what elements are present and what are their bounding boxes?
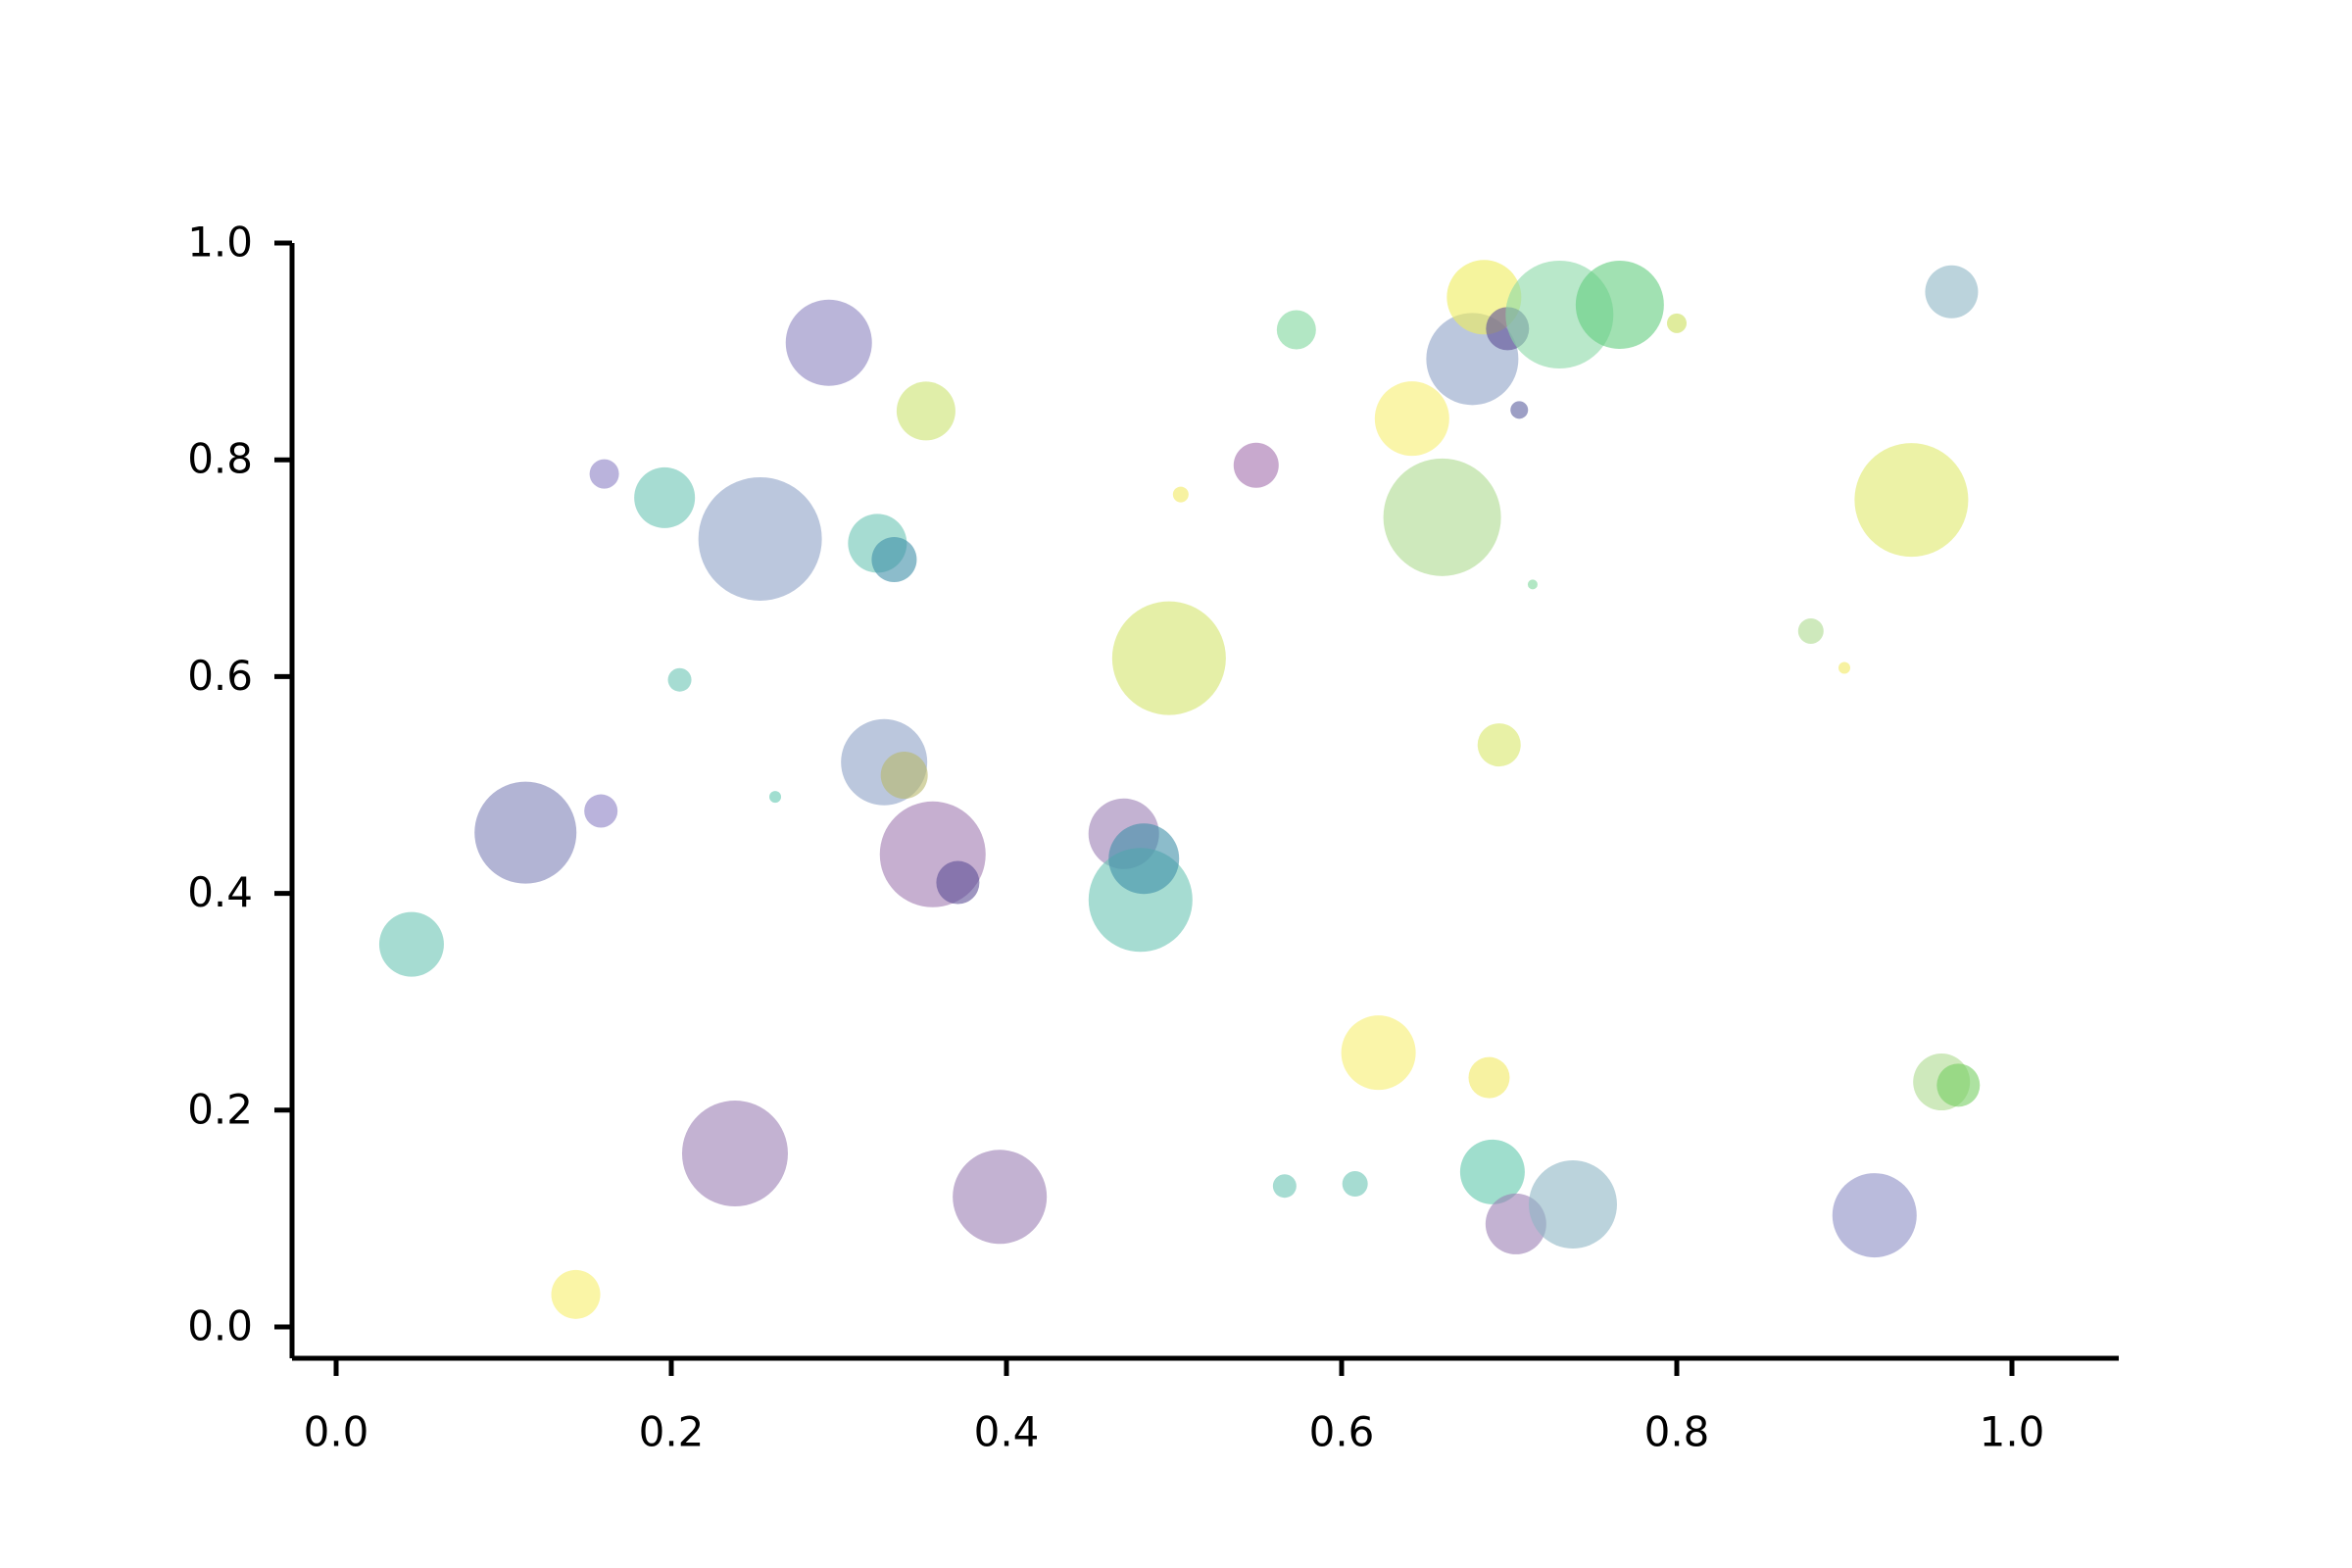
scatter-point — [1925, 266, 1978, 318]
scatter-point — [1529, 1160, 1617, 1249]
scatter-point — [668, 668, 692, 692]
x-tick-label: 0.2 — [639, 1408, 705, 1456]
scatter-point — [1273, 1174, 1297, 1198]
x-tick-label: 1.0 — [1980, 1408, 2045, 1456]
figure-background — [0, 0, 2352, 1568]
scatter-point — [786, 300, 872, 386]
scatter-point — [1234, 443, 1279, 488]
scatter-point — [881, 752, 928, 799]
scatter-point — [871, 537, 916, 582]
scatter-point — [1510, 401, 1528, 418]
scatter-point — [1343, 1171, 1368, 1197]
scatter-point — [1798, 618, 1824, 644]
y-tick-label: 0.6 — [187, 652, 253, 700]
x-tick-label: 0.8 — [1644, 1408, 1710, 1456]
scatter-point — [1528, 579, 1538, 589]
y-tick-label: 0.2 — [187, 1085, 253, 1133]
scatter-point — [1854, 443, 1968, 557]
scatter-point — [1384, 459, 1501, 576]
scatter-point — [1936, 1063, 1980, 1106]
scatter-point — [769, 791, 781, 803]
scatter-point — [699, 477, 822, 601]
scatter-point — [953, 1150, 1047, 1244]
scatter-point — [936, 861, 979, 905]
scatter-point — [1112, 602, 1226, 715]
y-tick-label: 0.4 — [187, 868, 253, 916]
scatter-point — [379, 912, 444, 977]
x-tick-label: 0.0 — [304, 1408, 369, 1456]
y-tick-label: 0.8 — [187, 435, 253, 483]
scatter-point — [1108, 823, 1179, 894]
scatter-point — [1576, 261, 1664, 349]
scatter-plot-figure: 0.00.20.40.60.81.0 0.00.20.40.60.81.0 — [0, 0, 2352, 1568]
scatter-point — [552, 1270, 601, 1319]
scatter-point — [474, 782, 576, 884]
scatter-point — [682, 1101, 788, 1206]
scatter-point — [897, 381, 955, 440]
scatter-point — [1478, 723, 1521, 766]
scatter-point — [634, 467, 695, 528]
scatter-point — [590, 460, 619, 489]
scatter-point — [1838, 662, 1850, 674]
y-tick-label: 1.0 — [187, 219, 253, 267]
x-tick-label: 0.4 — [974, 1408, 1040, 1456]
scatter-point — [1342, 1015, 1416, 1090]
scatter-point — [1468, 1057, 1509, 1099]
x-tick-label: 0.6 — [1309, 1408, 1375, 1456]
scatter-point — [1173, 487, 1189, 503]
y-tick-label: 0.0 — [187, 1302, 253, 1350]
scatter-point — [1375, 381, 1449, 456]
scatter-point — [1833, 1173, 1917, 1257]
scatter-point — [1667, 314, 1687, 333]
scatter-point — [1277, 310, 1316, 349]
scatter-point — [584, 795, 617, 828]
plot-canvas: 0.00.20.40.60.81.0 0.00.20.40.60.81.0 — [0, 0, 2352, 1568]
